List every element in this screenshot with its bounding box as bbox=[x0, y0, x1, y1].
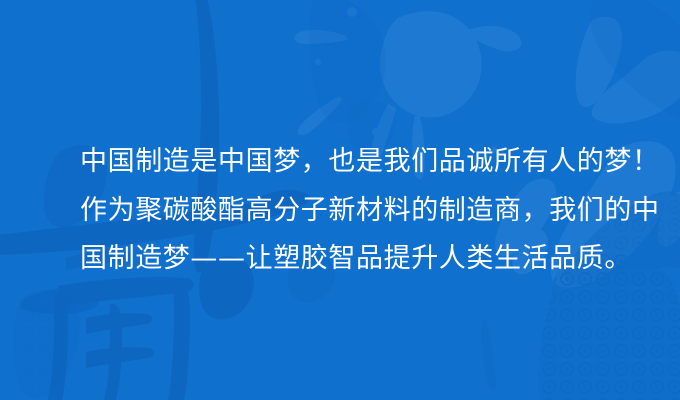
copy-line-2: 作为聚碳酸酯高分子新材料的制造商，我们的中 bbox=[80, 187, 620, 236]
promo-copy-block: 中国制造是中国梦，也是我们品诚所有人的梦！ 作为聚碳酸酯高分子新材料的制造商，我… bbox=[80, 138, 620, 284]
promo-banner: 中国制造是中国梦，也是我们品诚所有人的梦！ 作为聚碳酸酯高分子新材料的制造商，我… bbox=[0, 0, 680, 400]
copy-line-3: 国制造梦——让塑胶智品提升人类生活品质。 bbox=[80, 235, 620, 284]
copy-line-1: 中国制造是中国梦，也是我们品诚所有人的梦！ bbox=[80, 138, 620, 187]
